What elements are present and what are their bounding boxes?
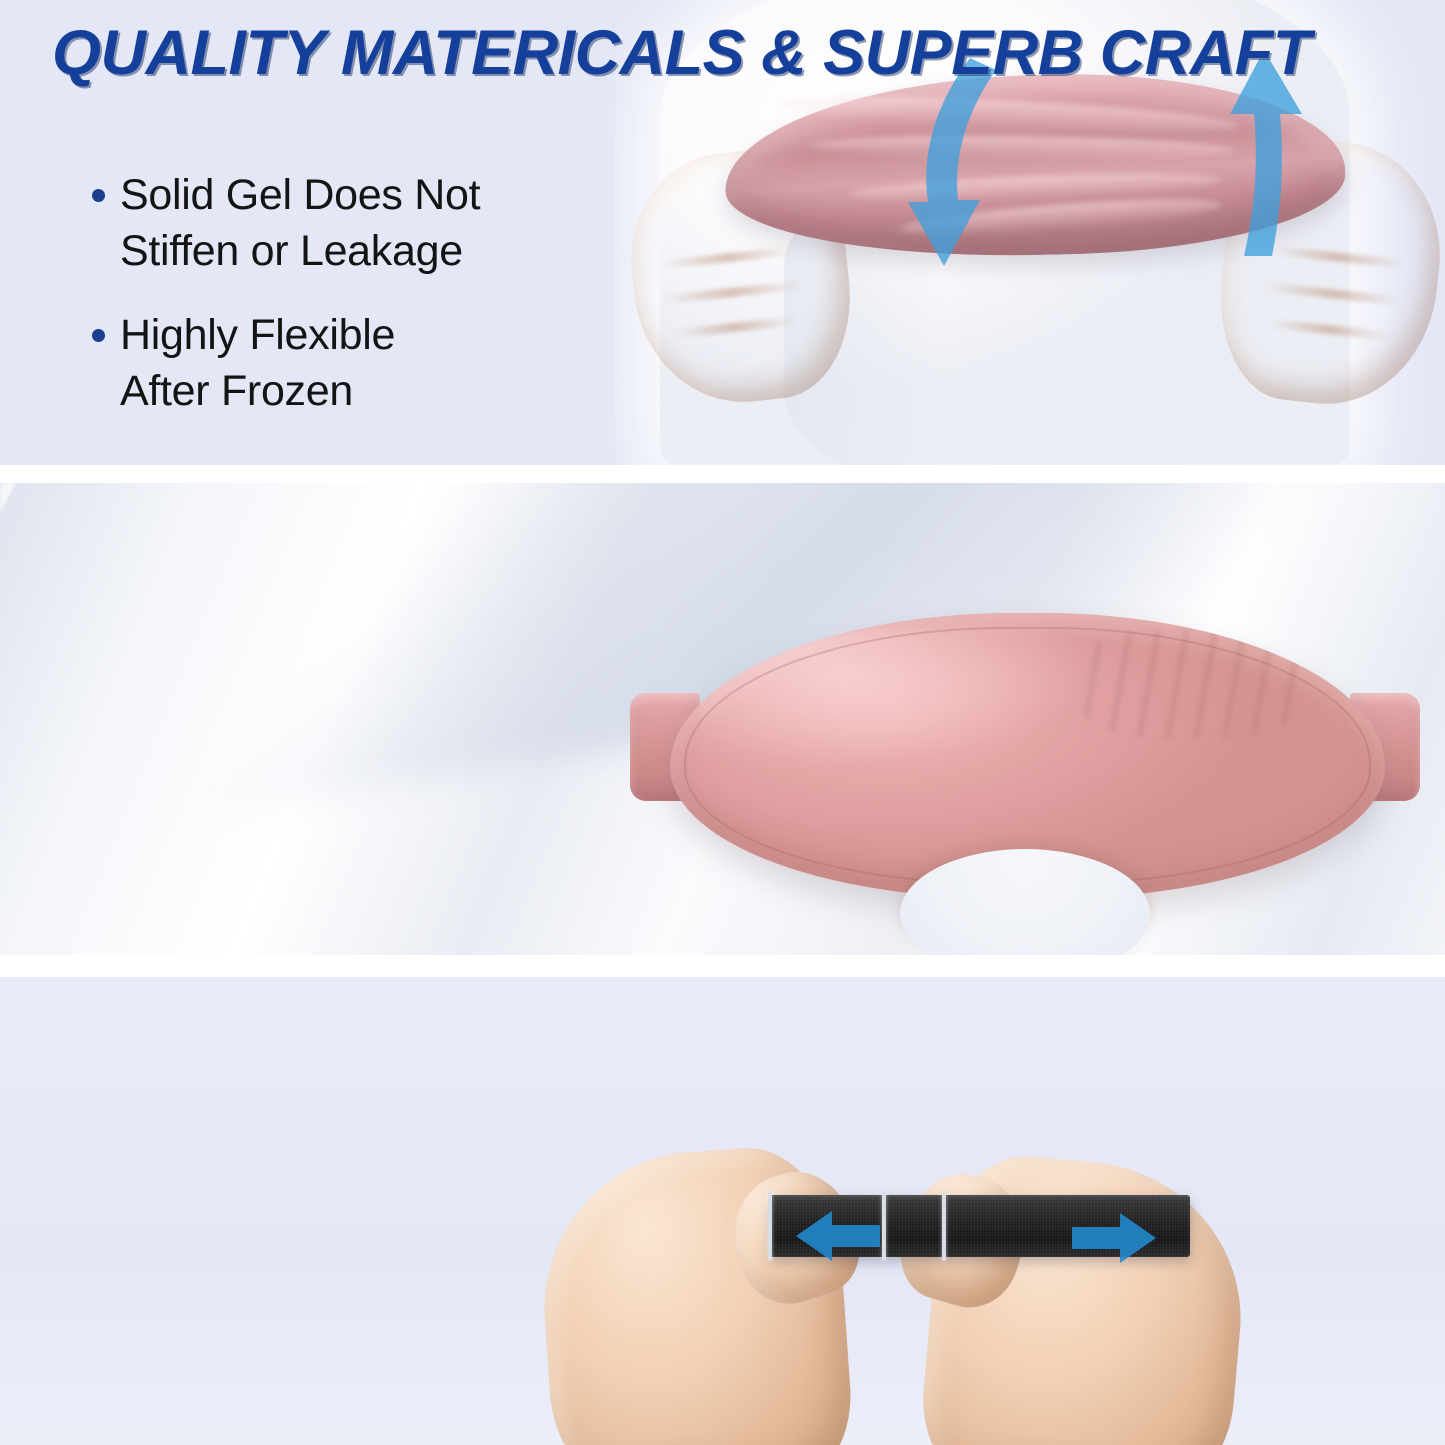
bullet-text: Highly Flexible After Frozen bbox=[120, 307, 395, 419]
panel-divider bbox=[0, 955, 1445, 977]
adjustable-strap-panel: Adjustable One Size Fits Most Design bbox=[0, 977, 1445, 1445]
panel-divider bbox=[0, 465, 1445, 483]
bullet-dot-icon bbox=[92, 189, 105, 202]
buckle-bar bbox=[768, 1191, 772, 1261]
panel-1-bullet-list: Solid Gel Does Not Stiffen or Leakage Hi… bbox=[92, 167, 480, 447]
fabric-fit-panel: Soft and Smooth Fabric Snug Fit Your Hea… bbox=[0, 483, 1445, 955]
list-item: Solid Gel Does Not Stiffen or Leakage bbox=[92, 167, 480, 279]
page-title: QUALITY MATERICALS & SUPERB CRAFT bbox=[52, 18, 1412, 88]
infographic-page: Solid Gel Does Not Stiffen or Leakage Hi… bbox=[0, 0, 1445, 1445]
list-item: Highly Flexible After Frozen bbox=[92, 307, 480, 419]
stitched-seam bbox=[684, 627, 1371, 884]
strap-adjust-photo bbox=[0, 977, 1445, 1445]
flat-eye-mask-photo bbox=[630, 613, 1420, 913]
fabric-fold bbox=[811, 134, 1233, 163]
arrow-right-icon bbox=[1068, 1207, 1160, 1269]
arrow-left-icon bbox=[792, 1205, 884, 1267]
bullet-dot-icon bbox=[92, 329, 105, 342]
buckle-bar bbox=[942, 1191, 946, 1261]
bullet-text: Solid Gel Does Not Stiffen or Leakage bbox=[120, 167, 480, 279]
